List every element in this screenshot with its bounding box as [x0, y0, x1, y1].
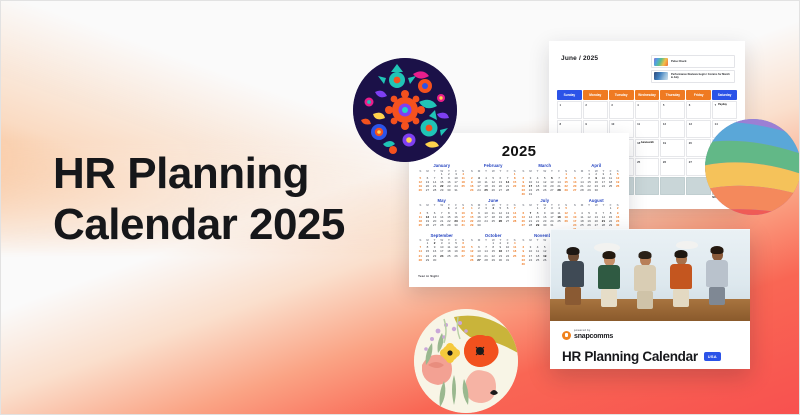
- weekday-header-row: SundayMondayTuesdayWednesdayThursdayFrid…: [549, 90, 745, 100]
- mini-month: JanuarySMTWTFS12345678910111213141516171…: [417, 164, 467, 197]
- mini-day-grid: 1234567891011121314151617181920212223242…: [469, 242, 519, 262]
- mini-month: AprilSMTWTFS1234567891011121314151617181…: [572, 164, 622, 197]
- mini-day-cell[interactable]: 31: [504, 259, 511, 263]
- mini-day-cell[interactable]: 25: [534, 259, 541, 263]
- day-cell[interactable]: 19: [660, 139, 685, 157]
- mini-day-cell[interactable]: 30: [520, 193, 527, 197]
- mini-day-grid: 1234567891011121314151617181920212223242…: [469, 173, 519, 193]
- mini-day-cell[interactable]: 26: [469, 259, 476, 263]
- mini-day-grid: 1234567891011121314151617181920212223242…: [572, 173, 622, 193]
- mini-month-name: February: [469, 164, 519, 168]
- mini-day-cell[interactable]: 25: [556, 220, 563, 224]
- mini-day-cell[interactable]: 29: [490, 259, 497, 263]
- day-number: 27: [689, 160, 692, 164]
- day-cell[interactable]: 13: [686, 120, 711, 138]
- mini-day-grid: 1234567891011121314151617181920212223242…: [417, 173, 467, 193]
- weekday-header-cell: Friday: [686, 90, 711, 100]
- mini-month: OctoberSMTWTFS12345678910111213141516171…: [469, 234, 519, 267]
- mini-day-cell[interactable]: 26: [497, 220, 504, 224]
- day-number: 9: [585, 122, 587, 126]
- page-title: HR Planning Calendar 2025: [53, 148, 413, 250]
- mini-day-cell[interactable]: 26: [424, 224, 431, 228]
- day-cell[interactable]: 1: [557, 101, 582, 119]
- day-number: 20: [689, 141, 692, 145]
- mini-month-name: August: [572, 199, 622, 203]
- day-number: 5: [663, 103, 665, 107]
- mini-month: MarchSMTWTFS1234567891011121314151617181…: [520, 164, 570, 197]
- person-4: [670, 253, 692, 307]
- mini-day-cell[interactable]: 29: [607, 224, 614, 228]
- day-cell[interactable]: 25: [635, 158, 660, 176]
- mini-day-cell[interactable]: 30: [446, 189, 453, 193]
- person-2: [598, 254, 620, 307]
- day-number: 11: [637, 122, 640, 126]
- mini-month: MaySMTWTFS123456789101112131415161718192…: [417, 199, 467, 232]
- mini-day-cell[interactable]: 28: [511, 220, 518, 224]
- mini-day-cell[interactable]: 31: [527, 193, 534, 197]
- mini-day-cell[interactable]: 30: [614, 224, 621, 228]
- mini-day-cell[interactable]: 31: [453, 189, 460, 193]
- day-cell[interactable]: [635, 177, 660, 195]
- team-photo: [550, 229, 750, 321]
- folk-flower-circle-icon: [353, 58, 457, 162]
- mini-day-cell[interactable]: 29: [438, 189, 445, 193]
- day-number: 4: [637, 103, 639, 107]
- mini-day-grid: 1234567891011121314151617181920212223242…: [520, 207, 570, 227]
- card-title: HR Planning Calendar: [562, 349, 698, 364]
- snapcomms-logo: powered by snapcomms: [562, 330, 738, 340]
- mini-day-cell[interactable]: 25: [460, 185, 467, 189]
- mini-day-cell[interactable]: 30: [593, 189, 600, 193]
- mini-month: JulySMTWTFS12345678910111213141516171819…: [520, 199, 570, 232]
- day-cell[interactable]: 12: [660, 120, 685, 138]
- mini-month-name: October: [469, 234, 519, 238]
- legend-thumbnail-icon: [654, 72, 668, 80]
- day-number: 3: [611, 103, 613, 107]
- day-number: 13: [689, 122, 692, 126]
- folk-flower-art: [353, 58, 457, 162]
- mini-day-cell[interactable]: 30: [497, 259, 504, 263]
- day-number: 26: [663, 160, 666, 164]
- weekday-header-cell: Saturday: [712, 90, 737, 100]
- day-number: 2: [585, 103, 587, 107]
- day-number: 14: [715, 122, 718, 126]
- mini-month-name: July: [520, 199, 570, 203]
- day-number: 25: [637, 160, 640, 164]
- mini-day-cell[interactable]: 26: [614, 185, 621, 189]
- mini-day-cell[interactable]: 27: [593, 224, 600, 228]
- day-cell[interactable]: 26: [660, 158, 685, 176]
- person-1: [562, 250, 584, 305]
- weekday-header-cell: Tuesday: [609, 90, 634, 100]
- mini-day-cell[interactable]: 29: [446, 224, 453, 228]
- pastel-flower-art: [414, 309, 518, 413]
- mini-day-cell[interactable]: 30: [476, 224, 483, 228]
- mini-day-cell[interactable]: 27: [520, 224, 527, 228]
- mini-month-name: May: [417, 199, 467, 203]
- mini-month-name: April: [572, 164, 622, 168]
- mini-day-cell[interactable]: 24: [476, 189, 483, 193]
- day-cell[interactable]: 4: [635, 101, 660, 119]
- mini-day-cell[interactable]: 28: [556, 189, 563, 193]
- weekday-header-cell: Monday: [583, 90, 608, 100]
- mini-day-cell[interactable]: 26: [453, 255, 460, 259]
- mini-day-cell[interactable]: 25: [607, 185, 614, 189]
- mini-day-cell[interactable]: 28: [579, 189, 586, 193]
- mini-day-cell[interactable]: 27: [497, 189, 504, 193]
- mini-day-cell[interactable]: 26: [490, 189, 497, 193]
- mini-day-cell[interactable]: 26: [586, 224, 593, 228]
- mini-day-cell[interactable]: 31: [460, 224, 467, 228]
- hr-planning-calendar-card[interactable]: powered by snapcomms HR Planning Calenda…: [550, 229, 750, 369]
- mini-day-cell[interactable]: 29: [534, 224, 541, 228]
- mini-day-cell[interactable]: 22: [511, 185, 518, 189]
- monthly-calendar-header: June / 2025 Pulse CheckPerformance Revie…: [549, 41, 745, 90]
- legend-item: Pulse Check: [651, 55, 735, 68]
- card-body: powered by snapcomms HR Planning Calenda…: [550, 321, 750, 364]
- day-number: 6: [689, 103, 691, 107]
- mini-day-cell[interactable]: 26: [541, 259, 548, 263]
- pastel-flower-circle-icon: [414, 309, 518, 413]
- mini-day-cell[interactable]: 24: [483, 220, 490, 224]
- mini-month: AugustSMTWTFS123456789101112131415161718…: [572, 199, 622, 232]
- mini-day-cell[interactable]: 27: [460, 255, 467, 259]
- mini-day-cell[interactable]: 26: [563, 220, 570, 224]
- mini-month-name: March: [520, 164, 570, 168]
- snapcomms-mark-icon: [562, 331, 571, 340]
- day-cell[interactable]: 3: [609, 101, 634, 119]
- mini-day-cell[interactable]: 28: [600, 224, 607, 228]
- day-cell[interactable]: [660, 177, 685, 195]
- mini-day-grid: 1234567891011121314151617181920212223242…: [469, 207, 519, 227]
- weekday-header-cell: Thursday: [660, 90, 685, 100]
- mini-day-cell[interactable]: 24: [527, 259, 534, 263]
- mini-month-name: June: [469, 199, 519, 203]
- mini-day-cell[interactable]: 25: [511, 255, 518, 259]
- rainbow-stripes: [705, 119, 800, 215]
- mini-day-cell[interactable]: 29: [469, 224, 476, 228]
- mini-day-cell[interactable]: 25: [417, 224, 424, 228]
- mini-day-cell[interactable]: 27: [424, 189, 431, 193]
- day-number: 10: [611, 122, 614, 126]
- headline-line-2: Calendar 2025: [53, 199, 413, 250]
- mini-month: JuneSMTWTFS12345678910111213141516171819…: [469, 199, 519, 232]
- mini-day-cell[interactable]: 31: [549, 224, 556, 228]
- mini-day-cell[interactable]: 29: [563, 189, 570, 193]
- monthly-calendar-title: June / 2025: [561, 55, 598, 62]
- mini-day-cell[interactable]: 25: [446, 255, 453, 259]
- mini-month: SeptemberSMTWTFS123456789101112131415161…: [417, 234, 467, 267]
- mini-day-cell[interactable]: 30: [431, 259, 438, 263]
- mini-day-cell[interactable]: 29: [424, 259, 431, 263]
- calendar-legend: Pulse CheckPerformance Reviews begin / C…: [651, 55, 735, 84]
- person-5: [706, 249, 728, 305]
- mini-day-cell[interactable]: 28: [504, 189, 511, 193]
- mini-month: FebruarySMTWTFS1234567891011121314151617…: [469, 164, 519, 197]
- region-badge[interactable]: USA: [704, 352, 721, 361]
- mini-day-grid: 1234567891011121314151617181920212223242…: [572, 207, 622, 231]
- weekday-header-cell: Wednesday: [635, 90, 660, 100]
- mini-day-cell[interactable]: 28: [527, 224, 534, 228]
- legend-label: Pulse Check: [671, 60, 686, 63]
- day-number: 12: [663, 122, 666, 126]
- day-number: 7: [715, 103, 717, 107]
- mini-day-cell[interactable]: 24: [600, 185, 607, 189]
- day-event-label: Juneteenth: [641, 141, 654, 144]
- mini-day-cell[interactable]: 29: [586, 189, 593, 193]
- card-title-row: HR Planning Calendar USA: [562, 349, 738, 364]
- mini-day-cell[interactable]: 25: [483, 189, 490, 193]
- mini-day-cell[interactable]: 25: [579, 224, 586, 228]
- banner-canvas: HR Planning Calendar 2025: [0, 0, 800, 415]
- mini-day-cell[interactable]: 27: [549, 189, 556, 193]
- headline-line-1: HR Planning: [53, 148, 413, 199]
- day-number: 19: [663, 141, 666, 145]
- legend-label: Performance Reviews begin / Comms for Ma…: [671, 73, 732, 80]
- mini-day-grid: 1234567891011121314151617181920212223242…: [520, 173, 570, 197]
- legend-thumbnail-icon: [654, 58, 668, 66]
- mini-day-cell[interactable]: 25: [534, 189, 541, 193]
- mini-day-cell[interactable]: 30: [541, 224, 548, 228]
- mini-day-cell[interactable]: 27: [572, 189, 579, 193]
- day-cell[interactable]: 18Juneteenth: [635, 139, 660, 157]
- day-cell[interactable]: 11: [635, 120, 660, 138]
- day-cell[interactable]: 5: [660, 101, 685, 119]
- mini-day-cell[interactable]: 30: [453, 224, 460, 228]
- mini-day-cell[interactable]: 27: [476, 259, 483, 263]
- brand-name: snapcomms: [574, 333, 613, 340]
- mini-day-cell[interactable]: 26: [417, 189, 424, 193]
- yearly-calendar-footer: Year in Sight: [418, 274, 439, 278]
- day-event-label: Payday: [718, 103, 727, 106]
- weekday-header-cell: Sunday: [557, 90, 582, 100]
- mini-day-cell[interactable]: 28: [483, 259, 490, 263]
- day-cell[interactable]: 7Payday: [712, 101, 737, 119]
- mini-day-cell[interactable]: 27: [431, 224, 438, 228]
- mini-day-grid: 1234567891011121314151617181920212223242…: [417, 207, 467, 227]
- mini-day-cell[interactable]: 23: [469, 189, 476, 193]
- mini-day-cell[interactable]: 28: [431, 189, 438, 193]
- legend-item: Performance Reviews begin / Comms for Ma…: [651, 70, 735, 83]
- mini-day-cell[interactable]: 26: [541, 189, 548, 193]
- mini-month-name: January: [417, 164, 467, 168]
- mini-day-cell[interactable]: 28: [417, 259, 424, 263]
- pendant-lamp-icon: [676, 241, 698, 249]
- mini-day-cell[interactable]: 30: [520, 263, 527, 267]
- mini-day-cell[interactable]: 27: [504, 220, 511, 224]
- rainbow-circle-icon: [705, 119, 800, 215]
- mini-day-grid: 1234567891011121314151617181920212223242…: [417, 242, 467, 262]
- day-cell[interactable]: 2: [583, 101, 608, 119]
- person-3: [634, 254, 656, 309]
- mini-month-name: September: [417, 234, 467, 238]
- mini-day-cell[interactable]: 25: [490, 220, 497, 224]
- day-number: 1: [560, 103, 562, 107]
- mini-day-cell[interactable]: 24: [438, 255, 445, 259]
- day-cell[interactable]: 6: [686, 101, 711, 119]
- day-number: 8: [560, 122, 562, 126]
- mini-day-cell[interactable]: 28: [438, 224, 445, 228]
